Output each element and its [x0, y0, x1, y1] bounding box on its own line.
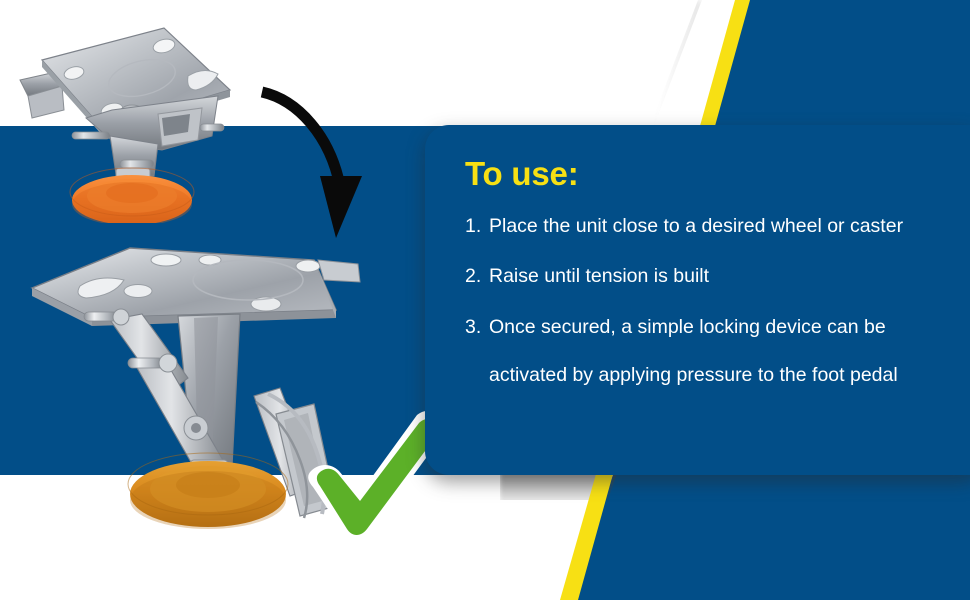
step-text: Once secured, a simple locking device ca…	[489, 317, 967, 386]
list-item: 2. Raise until tension is built	[465, 266, 967, 286]
steps-list: 1. Place the unit close to a desired whe…	[465, 216, 967, 386]
curved-down-arrow-icon	[250, 78, 365, 243]
list-item: 1. Place the unit close to a desired whe…	[465, 216, 967, 236]
step-number: 1.	[465, 216, 489, 236]
step-text-line1: Place the unit close to a desired wheel …	[489, 215, 903, 237]
step-text-line2: activated by applying pressure to the fo…	[489, 365, 967, 385]
step-number: 3.	[465, 317, 489, 386]
floor-lock-unlocked-photo	[12, 18, 237, 223]
page-title: To use:	[465, 157, 967, 190]
step-text-line1: Raise until tension is built	[489, 265, 709, 287]
step-text: Place the unit close to a desired wheel …	[489, 216, 967, 236]
step-number: 2.	[465, 266, 489, 286]
infographic-canvas: To use: 1. Place the unit close to a des…	[0, 0, 970, 600]
instruction-card: To use: 1. Place the unit close to a des…	[425, 125, 970, 475]
step-text-line1: Once secured, a simple locking device ca…	[489, 316, 886, 338]
step-text: Raise until tension is built	[489, 266, 967, 286]
list-item: 3. Once secured, a simple locking device…	[465, 317, 967, 386]
